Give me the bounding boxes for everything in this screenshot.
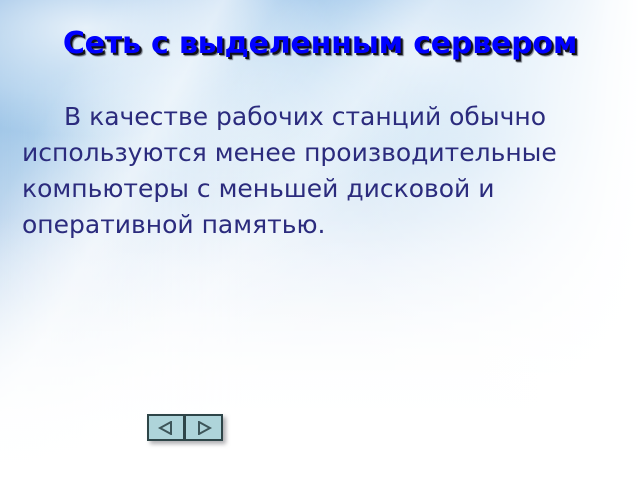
slide-canvas: Сеть с выделенным сервером В качестве ра… — [0, 0, 640, 480]
triangle-left-icon — [158, 421, 174, 435]
next-slide-button[interactable] — [185, 414, 223, 441]
navigation-buttons — [147, 414, 223, 441]
previous-slide-button[interactable] — [147, 414, 185, 441]
triangle-right-icon — [196, 421, 212, 435]
slide-body-text: В качестве рабочих станций обычно исполь… — [22, 99, 582, 243]
slide-title: Сеть с выделенным сервером — [0, 26, 640, 61]
